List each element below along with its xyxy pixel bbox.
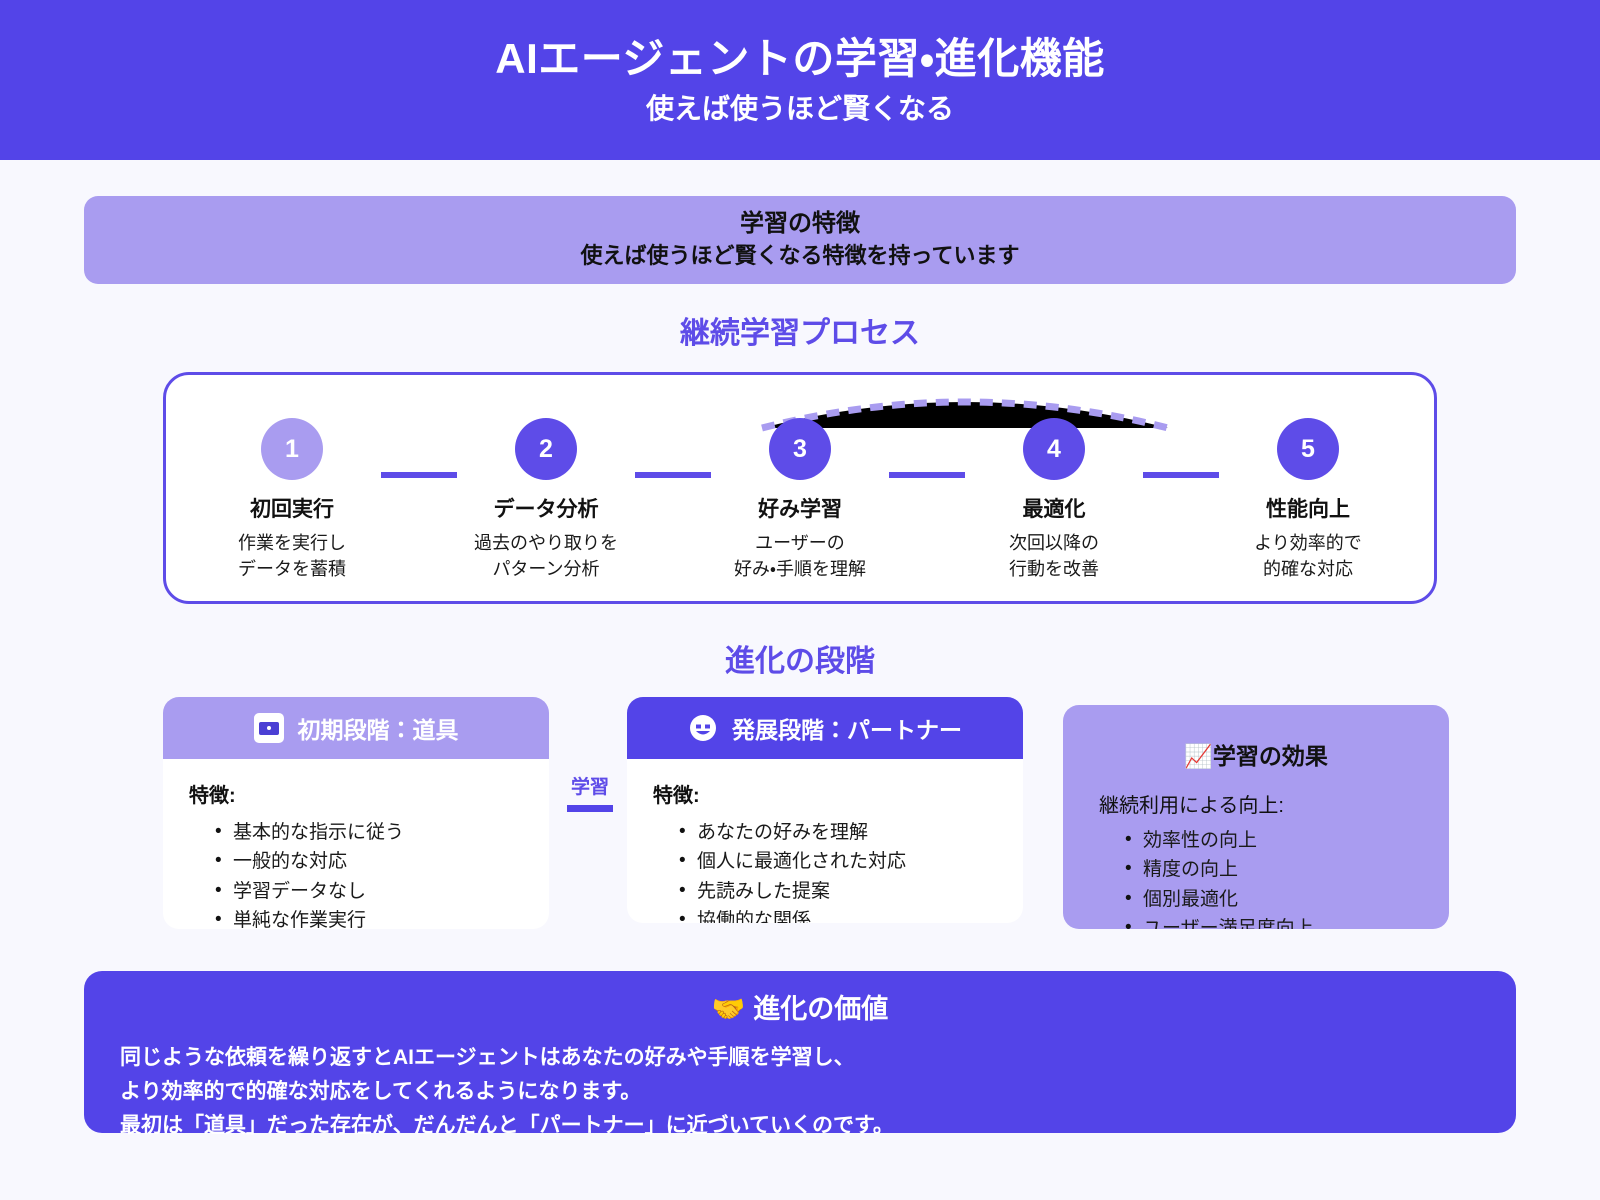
value-banner: 🤝進化の価値 同じような依頼を繰り返すとAIエージェントはあなたの好みや手順を学… [84, 971, 1516, 1133]
step-number-badge: 3 [769, 418, 831, 480]
list-item: 個別最適化 [1125, 885, 1449, 914]
step-description: より効率的で 的確な対応 [1254, 530, 1362, 582]
stage-card-partner-header: 発展段階：パートナー [627, 697, 1023, 759]
step-connector-1-2 [381, 472, 457, 478]
step-connector-4-5 [1143, 472, 1219, 478]
list-item: 効率性の向上 [1125, 826, 1449, 855]
stage-card-partner[interactable]: 発展段階：パートナー 特徴: あなたの好みを理解 個人に最適化された対応 先読み… [627, 697, 1023, 923]
stage-card-partner-title: 発展段階：パートナー [732, 711, 962, 745]
step-title: 初回実行 [250, 493, 334, 523]
list-item: 一般的な対応 [215, 847, 523, 876]
step-number-badge: 5 [1277, 418, 1339, 480]
value-banner-text: 同じような依頼を繰り返すとAIエージェントはあなたの好みや手順を学習し、 より効… [120, 1041, 1480, 1143]
list-item: 基本的な指示に従う [215, 818, 523, 847]
partner-feature-list: あなたの好みを理解 個人に最適化された対応 先読みした提案 協働的な関係 [653, 818, 997, 923]
page-title: AIエージェントの学習・進化機能 [495, 36, 1104, 82]
list-item: ユーザー満足度向上 [1125, 914, 1449, 929]
step-number-badge: 4 [1023, 418, 1085, 480]
chart-increasing-icon: 📈 [1184, 743, 1213, 769]
page-header: AIエージェントの学習・進化機能 使えば使うほど賢くなる [0, 0, 1600, 160]
process-step-2[interactable]: 2 データ分析 過去のやり取りを パターン分析 [457, 418, 635, 582]
step-connector-3-4 [889, 472, 965, 478]
stage-card-effect[interactable]: 📈学習の効果 継続利用による向上: 効率性の向上 精度の向上 個別最適化 ユーザ… [1063, 705, 1449, 929]
effect-list: 効率性の向上 精度の向上 個別最適化 ユーザー満足度向上 [1063, 826, 1449, 929]
stage-card-tool-header: 初期段階：道具 [163, 697, 549, 759]
stage-card-effect-header: 📈学習の効果 [1063, 705, 1449, 771]
list-item: 協働的な関係 [679, 906, 997, 923]
process-step-4[interactable]: 4 最適化 次回以降の 行動を改善 [965, 418, 1143, 582]
step-number-badge: 2 [515, 418, 577, 480]
step-title: 最適化 [1023, 493, 1086, 523]
feature-banner: 学習の特徴 使えば使うほど賢くなる特徴を持っています [84, 196, 1516, 284]
step-title: 性能向上 [1266, 493, 1350, 523]
tool-glyph-icon [254, 713, 284, 743]
step-description: 過去のやり取りを パターン分析 [474, 530, 618, 582]
stage-card-tool-title: 初期段階：道具 [298, 711, 459, 745]
list-item: 単純な作業実行 [215, 906, 523, 929]
process-step-5[interactable]: 5 性能向上 より効率的で 的確な対応 [1219, 418, 1397, 582]
learning-connector: 学習 [562, 778, 618, 812]
page-subtitle: 使えば使うほど賢くなる [646, 94, 954, 125]
stage-card-effect-title: 学習の効果 [1213, 743, 1328, 769]
step-connector-2-3 [635, 472, 711, 478]
process-section-title: 継続学習プロセス [0, 308, 1600, 352]
tool-feature-list: 基本的な指示に従う 一般的な対応 学習データなし 単純な作業実行 [189, 818, 523, 929]
step-description: ユーザーの 好み・手順を理解 [734, 530, 866, 582]
stage-cards-row: 初期段階：道具 特徴: 基本的な指示に従う 一般的な対応 学習データなし 単純な… [0, 697, 1600, 937]
value-banner-title-row: 🤝進化の価値 [120, 993, 1480, 1025]
list-item: 学習データなし [215, 877, 523, 906]
step-description: 次回以降の 行動を改善 [1009, 530, 1099, 582]
list-item: あなたの好みを理解 [679, 818, 997, 847]
step-number-badge: 1 [261, 418, 323, 480]
features-label: 特徴: [653, 779, 997, 808]
process-steps: 1 初回実行 作業を実行し データを蓄積 2 データ分析 過去のやり取りを パタ… [163, 418, 1437, 582]
handshake-icon: 🤝 [712, 994, 746, 1024]
effect-subtitle: 継続利用による向上: [1063, 771, 1449, 826]
list-item: 個人に最適化された対応 [679, 847, 997, 876]
stage-card-tool-body: 特徴: 基本的な指示に従う 一般的な対応 学習データなし 単純な作業実行 [163, 759, 549, 929]
learning-connector-bar [567, 805, 613, 812]
stage-section-title: 進化の段階 [0, 636, 1600, 680]
step-description: 作業を実行し データを蓄積 [238, 530, 346, 582]
process-step-3[interactable]: 3 好み学習 ユーザーの 好み・手順を理解 [711, 418, 889, 582]
feature-banner-title: 学習の特徴 [740, 210, 860, 239]
step-title: データ分析 [494, 493, 599, 523]
list-item: 精度の向上 [1125, 855, 1449, 884]
value-banner-title: 進化の価値 [753, 994, 888, 1024]
feature-banner-subtitle: 使えば使うほど賢くなる特徴を持っています [581, 243, 1020, 269]
stage-card-partner-body: 特徴: あなたの好みを理解 個人に最適化された対応 先読みした提案 協働的な関係 [627, 759, 1023, 923]
step-title: 好み学習 [758, 493, 842, 523]
features-label: 特徴: [189, 779, 523, 808]
smiling-face-icon [688, 713, 718, 743]
list-item: 先読みした提案 [679, 877, 997, 906]
learning-connector-label: 学習 [562, 778, 618, 797]
stage-card-tool[interactable]: 初期段階：道具 特徴: 基本的な指示に従う 一般的な対応 学習データなし 単純な… [163, 697, 549, 929]
process-step-1[interactable]: 1 初回実行 作業を実行し データを蓄積 [203, 418, 381, 582]
